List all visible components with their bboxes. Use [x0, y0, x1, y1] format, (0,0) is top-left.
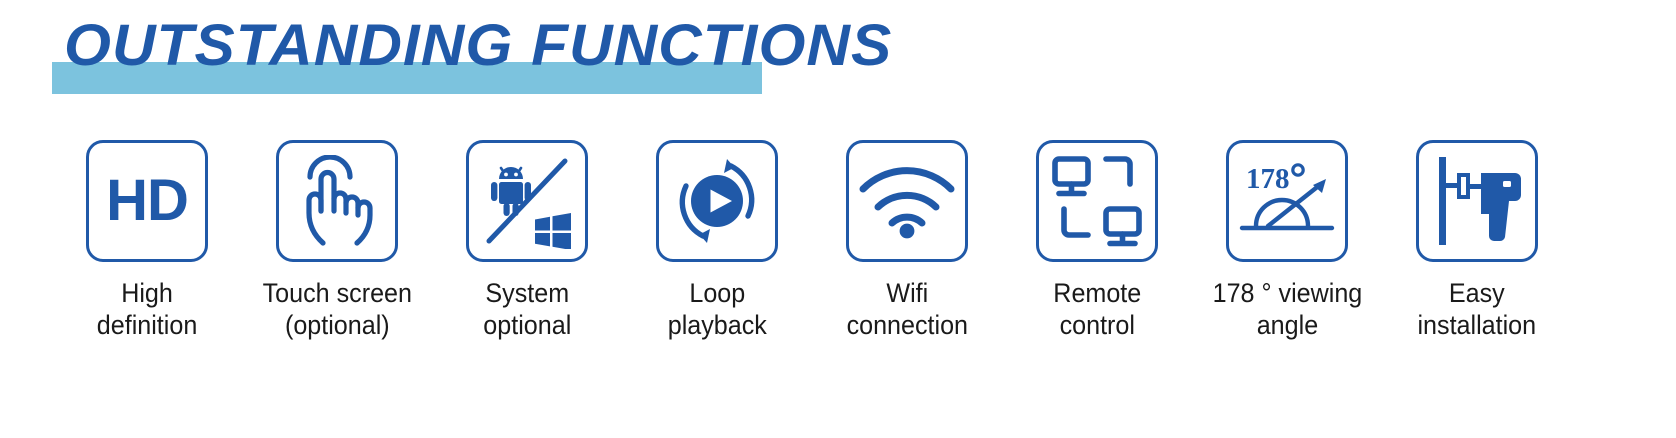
feature-item-wifi-connection[interactable]: Wifi connection — [812, 140, 1002, 342]
loop-playback-icon-box — [656, 140, 778, 262]
feature-item-remote-control[interactable]: Remote control — [1002, 140, 1192, 342]
feature-label: Easy installation — [1418, 278, 1537, 342]
windows-icon — [535, 213, 571, 249]
feature-item-system-optional[interactable]: System optional — [432, 140, 622, 342]
system-icon-box — [466, 140, 588, 262]
easy-installation-icon-box — [1416, 140, 1538, 262]
remote-control-icon-box — [1036, 140, 1158, 262]
wifi-icon — [858, 163, 956, 239]
wifi-icon-box — [846, 140, 968, 262]
viewing-angle-icon: 178 — [1238, 160, 1336, 242]
page-title-block: OUTSTANDING FUNCTIONS — [52, 8, 772, 90]
feature-item-high-definition[interactable]: HD High definition — [52, 140, 242, 342]
remote-control-icon — [1050, 154, 1144, 248]
feature-label: System optional — [483, 278, 571, 342]
loop-playback-icon — [669, 153, 765, 249]
viewing-angle-value: 178 — [1246, 163, 1290, 195]
feature-item-easy-installation[interactable]: Easy installation — [1382, 140, 1572, 342]
feature-item-loop-playback[interactable]: Loop playback — [622, 140, 812, 342]
page-title: OUTSTANDING FUNCTIONS — [64, 10, 892, 82]
feature-label: Loop playback — [667, 278, 766, 342]
feature-label: High definition — [97, 278, 198, 342]
android-icon — [491, 167, 531, 216]
easy-installation-drill-icon — [1429, 155, 1525, 247]
feature-label: Remote control — [1053, 278, 1141, 342]
touch-screen-icon — [294, 155, 380, 247]
hd-icon-box: HD — [86, 140, 208, 262]
system-android-windows-icon — [479, 153, 575, 249]
feature-item-viewing-angle[interactable]: 178 178 ° viewing angle — [1192, 140, 1382, 342]
viewing-angle-icon-box: 178 — [1226, 140, 1348, 262]
feature-label: 178 ° viewing angle — [1212, 278, 1362, 342]
feature-list: HD High definition Touch screen (optiona… — [52, 140, 1632, 342]
touch-screen-icon-box — [276, 140, 398, 262]
feature-label: Touch screen (optional) — [262, 278, 411, 342]
feature-item-touch-screen[interactable]: Touch screen (optional) — [242, 140, 432, 342]
feature-label: Wifi connection — [846, 278, 967, 342]
hd-icon: HD — [106, 172, 188, 230]
